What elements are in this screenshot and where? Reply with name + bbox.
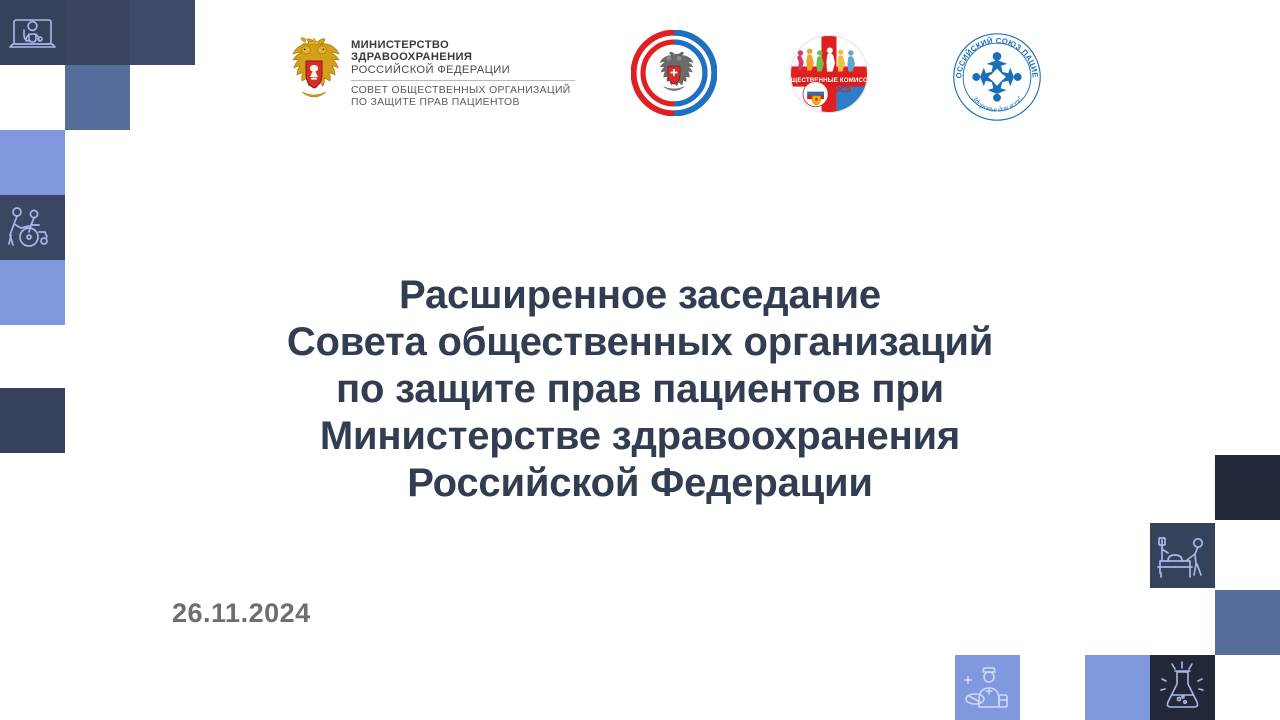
wheelchair-assist-icon — [0, 195, 65, 260]
logo-bar: МИНИСТЕРСТВО ЗДРАВООХРАНЕНИЯ РОССИЙСКОЙ … — [0, 0, 1280, 140]
roszdravnadzor-logo — [631, 30, 717, 116]
decor-square-pharmacy — [955, 655, 1020, 720]
minzdrav-line-2: ЗДРАВООХРАНЕНИЯ — [351, 51, 575, 63]
patient-bed-icon — [1150, 523, 1215, 588]
decor-square-wheelchair — [0, 195, 65, 260]
pharmacist-medicine-icon — [955, 655, 1020, 720]
slide-date: 26.11.2024 — [172, 598, 311, 629]
minzdrav-line-1: МИНИСТЕРСТВО — [351, 39, 575, 51]
decor-square-7 — [1215, 455, 1280, 520]
decor-square-8 — [1215, 590, 1280, 655]
minzdrav-line-3: РОССИЙСКОЙ ФЕДЕРАЦИИ — [351, 64, 575, 76]
presentation-slide: МИНИСТЕРСТВО ЗДРАВООХРАНЕНИЯ РОССИЙСКОЙ … — [0, 0, 1280, 720]
minzdrav-divider — [351, 80, 575, 81]
decor-square-5 — [0, 260, 65, 325]
double-headed-eagle-emblem — [286, 36, 342, 104]
minzdrav-line-4: СОВЕТ ОБЩЕСТВЕННЫХ ОРГАНИЗАЦИЙ — [351, 85, 575, 97]
decor-square-9 — [1085, 655, 1150, 720]
decor-square-lab — [1150, 655, 1215, 720]
mse-text-line-1: ОБЩЕСТВЕННЫЕ КОМИССИИ — [787, 77, 871, 84]
decor-square-6 — [0, 388, 65, 453]
decor-square-hospital-bed — [1150, 523, 1215, 588]
minzdrav-line-5: ПО ЗАЩИТЕ ПРАВ ПАЦИЕНТОВ — [351, 97, 575, 109]
all-russian-union-of-patients-logo: ВСЕРОССИЙСКИЙ СОЮЗ ПАЦИЕНТОВ Здоровье дл… — [950, 30, 1044, 124]
lab-flask-icon — [1150, 655, 1215, 720]
slide-title: Расширенное заседание Совета общественны… — [160, 272, 1120, 507]
minzdrav-logo: МИНИСТЕРСТВО ЗДРАВООХРАНЕНИЯ РОССИЙСКОЙ … — [286, 36, 575, 110]
public-commissions-mse-logo: ОБЩЕСТВЕННЫЕ КОМИССИИ МСЭ — [787, 32, 871, 116]
mse-text-line-2: МСЭ — [834, 85, 852, 94]
